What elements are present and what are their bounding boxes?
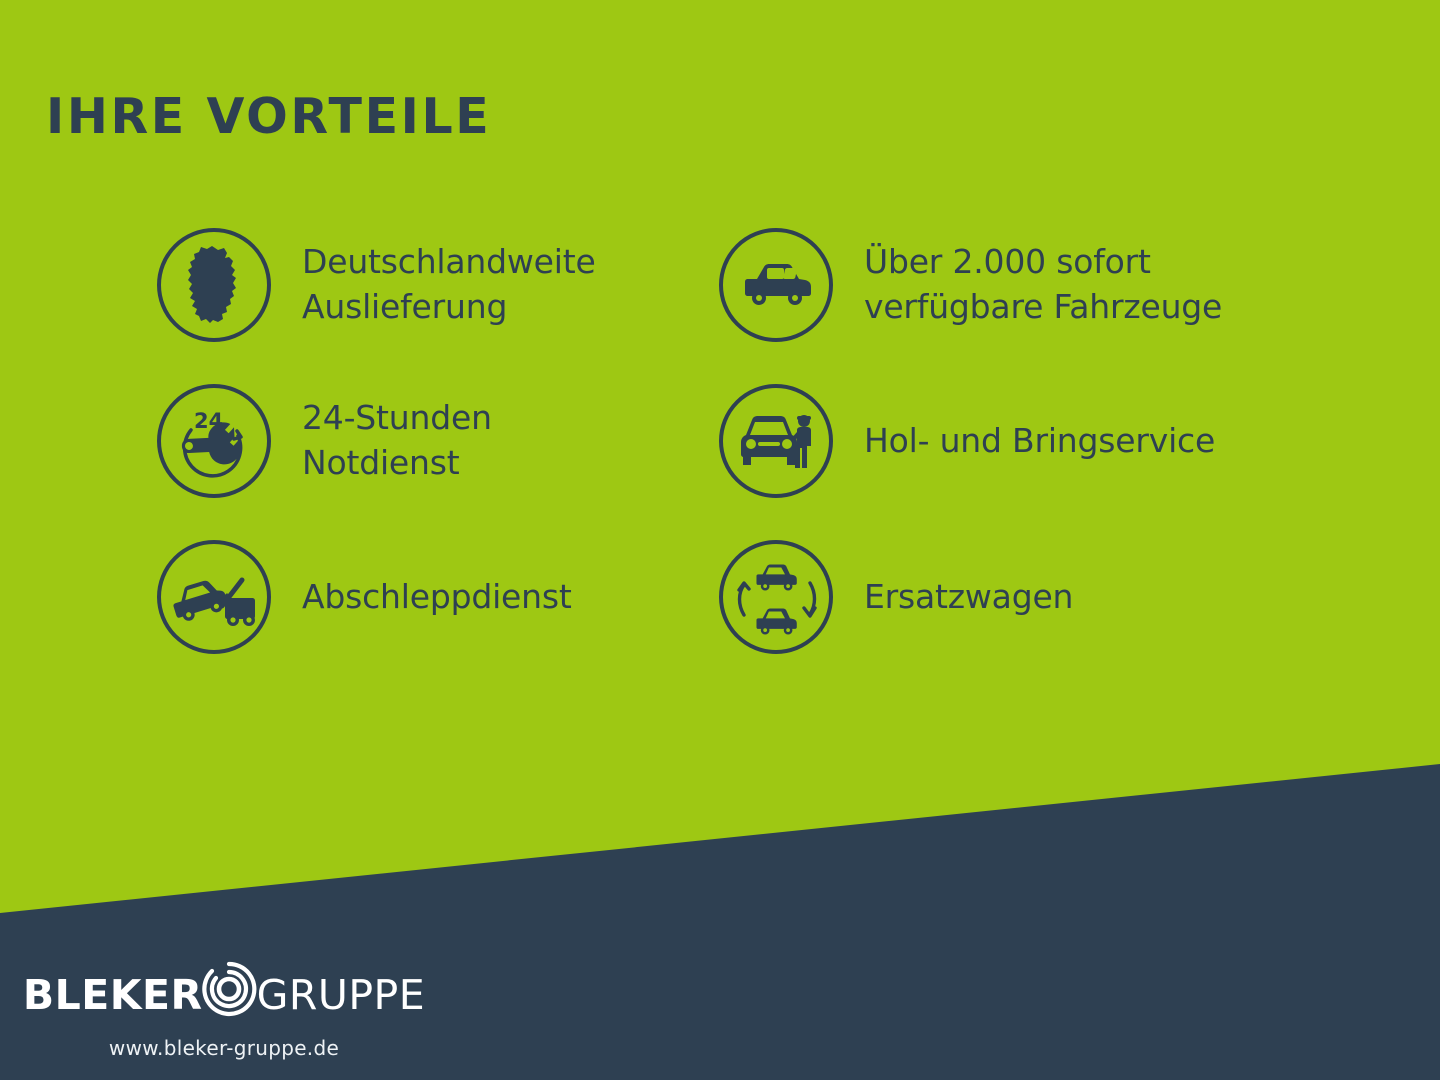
brand-logo: BLEKER GRUPPE www.bleker-gruppe.de bbox=[24, 963, 424, 1060]
slide-canvas: IHRE VORTEILE Deutschlandweite Ausliefer… bbox=[0, 0, 1440, 1080]
two-cars-swap-icon bbox=[719, 540, 833, 654]
logo-name-bold: BLEKER bbox=[23, 975, 203, 1016]
benefit-label: Über 2.000 sofort verfügbare Fahrzeuge bbox=[864, 240, 1222, 330]
tow-truck-icon bbox=[157, 540, 271, 654]
benefit-item-abschleppdienst: Abschleppdienst bbox=[157, 540, 717, 654]
benefit-item-verfuegbare-fahrzeuge: Über 2.000 sofort verfügbare Fahrzeuge bbox=[719, 228, 1277, 342]
benefits-grid: Deutschlandweite Auslieferung Über 2.000… bbox=[157, 228, 1357, 654]
benefit-label: Deutschlandweite Auslieferung bbox=[302, 240, 596, 330]
germany-map-icon bbox=[157, 228, 271, 342]
benefit-label: Abschleppdienst bbox=[302, 575, 572, 620]
benefit-item-hol-und-bringservice: Hol- und Bringservice bbox=[719, 384, 1277, 498]
car-with-driver-icon bbox=[719, 384, 833, 498]
benefit-item-ersatzwagen: Ersatzwagen bbox=[719, 540, 1277, 654]
logo-name-light: GRUPPE bbox=[257, 975, 426, 1016]
spiral-circle-logo-icon bbox=[198, 958, 260, 1023]
benefit-item-deutschlandweite-auslieferung: Deutschlandweite Auslieferung bbox=[157, 228, 717, 342]
page-title: IHRE VORTEILE bbox=[46, 92, 491, 141]
car-side-icon bbox=[719, 228, 833, 342]
logo-wordmark: BLEKER GRUPPE bbox=[24, 963, 424, 1028]
benefit-item-24-stunden-notdienst: 24 24-Stunden Notdienst bbox=[157, 384, 717, 498]
logo-website-url: www.bleker-gruppe.de bbox=[24, 1036, 424, 1060]
benefit-label: 24-Stunden Notdienst bbox=[302, 396, 492, 486]
benefit-label: Hol- und Bringservice bbox=[864, 419, 1215, 464]
benefit-label: Ersatzwagen bbox=[864, 575, 1073, 620]
24-hour-wrench-icon: 24 bbox=[157, 384, 271, 498]
